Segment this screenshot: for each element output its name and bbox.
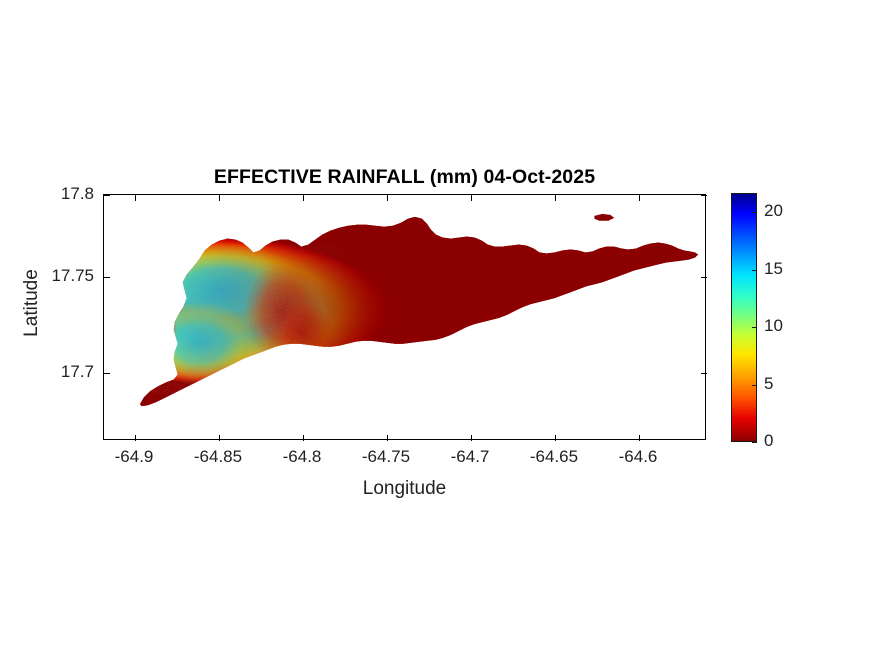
- y-tick: [701, 373, 707, 374]
- y-tick-label: 17.8: [14, 184, 94, 204]
- offshore-islet: [594, 214, 614, 221]
- x-tick: [639, 195, 640, 201]
- x-axis-title: Longitude: [103, 478, 706, 500]
- map-axes: [103, 194, 706, 440]
- island-raster: [104, 195, 705, 439]
- x-tick: [135, 195, 136, 201]
- x-tick: [219, 195, 220, 201]
- y-axis-title: Latitude: [21, 243, 43, 363]
- x-tick: [639, 435, 640, 441]
- x-tick-label: -64.9: [89, 447, 179, 467]
- x-tick: [555, 435, 556, 441]
- x-tick-label: -64.75: [341, 447, 431, 467]
- y-tick: [104, 277, 110, 278]
- x-tick: [303, 435, 304, 441]
- y-tick: [701, 195, 707, 196]
- y-tick: [104, 373, 110, 374]
- x-tick-label: -64.8: [257, 447, 347, 467]
- colorbar-tick: [752, 442, 757, 443]
- x-tick-label: -64.85: [173, 447, 263, 467]
- colorbar-tick: [752, 212, 757, 213]
- y-tick-label: 17.7: [14, 362, 94, 382]
- colorbar-label: 20: [764, 201, 783, 221]
- colorbar-tick: [752, 327, 757, 328]
- colorbar-label: 10: [764, 316, 783, 336]
- x-tick: [471, 435, 472, 441]
- x-tick: [471, 195, 472, 201]
- colorbar-tick: [752, 385, 757, 386]
- x-tick: [219, 435, 220, 441]
- x-tick-label: -64.6: [593, 447, 683, 467]
- x-tick: [555, 195, 556, 201]
- colorbar-tick: [752, 270, 757, 271]
- page-title: EFFECTIVE RAINFALL (mm) 04-Oct-2025: [103, 166, 706, 189]
- y-tick: [104, 195, 110, 196]
- rainfall-field: [104, 195, 705, 439]
- x-tick-label: -64.7: [425, 447, 515, 467]
- x-tick-label: -64.65: [509, 447, 599, 467]
- y-tick: [701, 277, 707, 278]
- rainfall-map-figure: EFFECTIVE RAINFALL (mm) 04-Oct-2025: [0, 0, 875, 656]
- x-tick: [303, 195, 304, 201]
- colorbar: [731, 193, 757, 442]
- x-tick: [387, 195, 388, 201]
- colorbar-label: 0: [764, 431, 773, 451]
- x-tick: [387, 435, 388, 441]
- colorbar-label: 5: [764, 374, 773, 394]
- x-tick: [135, 435, 136, 441]
- colorbar-label: 15: [764, 259, 783, 279]
